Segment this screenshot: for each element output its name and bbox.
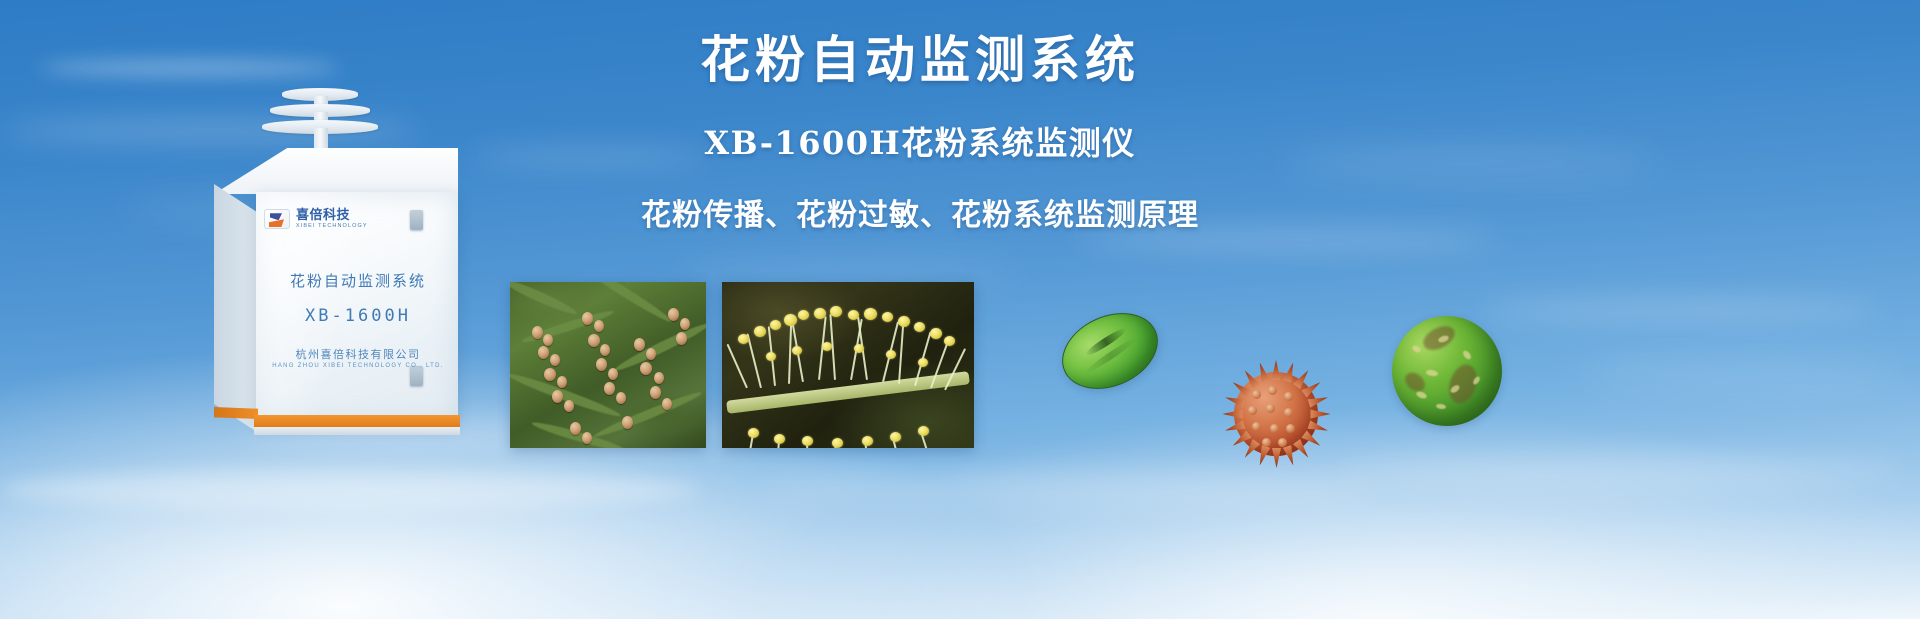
headline-block: 花粉自动监测系统 XB-1600H花粉系统监测仪 花粉传播、花粉过敏、花粉系统监…	[600, 28, 1240, 234]
cabinet-base-left-strip	[214, 407, 258, 419]
cabinet-top-face	[214, 148, 458, 194]
page-subtitle: XB-1600H花粉系统监测仪	[600, 118, 1240, 164]
catkin-flower-photo	[722, 282, 974, 448]
device-company-cn: 杭州喜倍科技有限公司	[196, 346, 476, 362]
cloud-wisp	[680, 265, 1020, 283]
brand-name-cn: 喜倍科技	[296, 209, 368, 223]
cabinet-latch-lower	[410, 366, 423, 386]
brand-name-en: XIBEI TECHNOLOGY	[296, 224, 368, 230]
page-tagline: 花粉传播、花粉过敏、花粉系统监测原理	[600, 190, 1240, 234]
device-model-label: XB-1600H	[196, 306, 476, 326]
cabinet-foot	[254, 427, 460, 435]
cloud-wisp	[760, 470, 1380, 506]
cypress-cones-photo	[510, 282, 706, 448]
mossy-green-pollen-grain	[1392, 316, 1502, 426]
device-brand-logo: 喜倍科技 XIBEI TECHNOLOGY	[264, 209, 368, 229]
cabinet-base-orange-strip	[254, 415, 460, 427]
pollen-monitor-device: 喜倍科技 XIBEI TECHNOLOGY 花粉自动监测系统 XB-1600H …	[196, 74, 476, 430]
device-panel-title: 花粉自动监测系统	[196, 270, 476, 291]
xibei-logo-icon	[264, 209, 290, 229]
banner-background: 花粉自动监测系统 XB-1600H花粉系统监测仪 花粉传播、花粉过敏、花粉系统监…	[0, 0, 1920, 619]
cabinet-latch-upper	[410, 210, 423, 230]
cloud-wisp	[1340, 455, 1900, 489]
page-title: 花粉自动监测系统	[600, 28, 1240, 92]
device-company-en: HANG ZHOU XIBEI TECHNOLOGY CO., LTD.	[196, 363, 476, 369]
cloud-wisp	[0, 470, 700, 510]
cloud-wisp	[1480, 300, 1880, 320]
cloud-wisp	[1280, 150, 1660, 174]
green-oval-pollen-grain	[1050, 299, 1170, 404]
cloud-wisp	[1580, 360, 1900, 386]
spiky-red-pollen-grain	[1222, 360, 1330, 468]
